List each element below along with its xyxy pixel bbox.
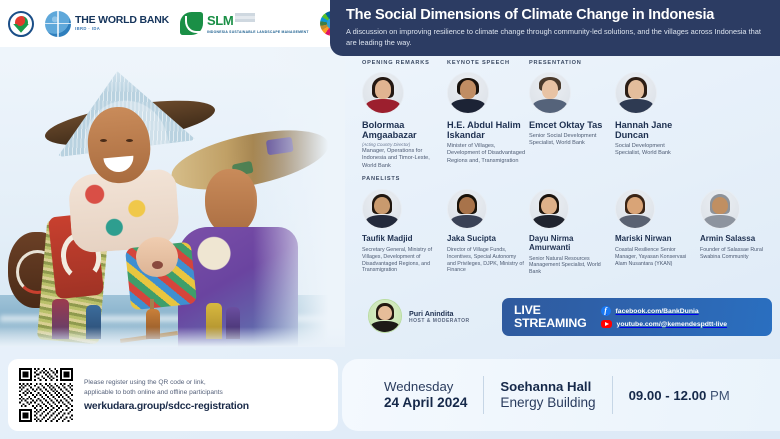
event-info-bar: Wednesday 24 April 2024 Soehanna Hall En… bbox=[342, 359, 780, 431]
avatar-shoulders bbox=[366, 215, 399, 228]
panelist-name: Taufik Madjid bbox=[362, 235, 440, 244]
avatar-shoulders bbox=[533, 215, 566, 228]
section-label-opening-remarks: OPENING REMARKS bbox=[362, 60, 430, 66]
section-label-presentation: PRESENTATION bbox=[529, 60, 582, 66]
avatar-shoulders bbox=[451, 215, 484, 228]
event-time-block: 09.00 - 12.00 PM bbox=[613, 388, 730, 403]
facebook-link[interactable]: f facebook.com/BankDunia bbox=[601, 306, 728, 316]
avatar bbox=[447, 189, 487, 229]
section-label-panelists: PANELISTS bbox=[362, 176, 400, 182]
panelist-card-taufik-madjid: Taufik Madjid Secretary General, Ministr… bbox=[362, 189, 440, 274]
panelist-card-dayu-nirma-amurwanti: Dayu Nirma Amurwanti Senior Natural Reso… bbox=[529, 189, 603, 276]
world-bank-sub: IBRD · IDA bbox=[75, 27, 169, 31]
speaker-card-hannah-jane-duncan: Hannah Jane Duncan Social Development Sp… bbox=[615, 72, 687, 158]
speaker-name: Hannah Jane Duncan bbox=[615, 120, 687, 140]
globe-icon bbox=[45, 11, 71, 37]
photo-fade-bottom bbox=[0, 327, 345, 347]
avatar-shoulders bbox=[533, 99, 567, 113]
avatar-head bbox=[542, 80, 559, 98]
world-bank-wordmark: THE WORLD BANK IBRD · IDA bbox=[75, 15, 169, 31]
avatar bbox=[615, 189, 655, 229]
avatar bbox=[362, 189, 402, 229]
host-card: Puri Anindita HOST & MODERATOR bbox=[368, 299, 470, 333]
photo-fade-right bbox=[253, 47, 345, 347]
speaker-role: Minister of Villages, Development of Dis… bbox=[447, 143, 527, 165]
youtube-link[interactable]: youtube.com/@kemendespdtt-live bbox=[601, 320, 728, 328]
registration-line-2: applicable to both online and offline pa… bbox=[84, 388, 249, 398]
avatar-head bbox=[712, 197, 728, 214]
event-time: 09.00 - 12.00 bbox=[629, 388, 707, 403]
avatar bbox=[529, 72, 571, 114]
avatar-head bbox=[627, 197, 643, 214]
avatar bbox=[700, 189, 740, 229]
speaker-card-emcet-oktay-tas: Emcet Oktay Tas Senior Social Developmen… bbox=[529, 72, 605, 148]
avatar bbox=[368, 299, 402, 333]
registration-text: Please register using the QR code or lin… bbox=[84, 378, 249, 412]
event-time-suffix: PM bbox=[710, 388, 730, 403]
panelist-name: Jaka Sucipta bbox=[447, 235, 525, 244]
registration-line-1: Please register using the QR code or lin… bbox=[84, 378, 249, 388]
avatar bbox=[447, 72, 489, 114]
event-date-block: Wednesday 24 April 2024 bbox=[368, 379, 483, 411]
speaker-name: Emcet Oktay Tas bbox=[529, 120, 605, 130]
avatar-head bbox=[378, 306, 391, 321]
speaker-name: Bolormaa Amgaabazar bbox=[362, 120, 436, 140]
facebook-icon: f bbox=[601, 306, 611, 316]
speaker-card-bolormaa-amgaabazar: Bolormaa Amgaabazar (Acting Country Dire… bbox=[362, 72, 436, 170]
avatar-head bbox=[374, 197, 390, 214]
avatar-head bbox=[459, 197, 475, 214]
speaker-subtitle: (Acting Country Director) bbox=[362, 142, 436, 147]
logo-kemendes bbox=[8, 11, 34, 37]
avatar-shoulders bbox=[366, 99, 400, 113]
avatar-head bbox=[375, 80, 392, 98]
avatar-shoulders bbox=[371, 321, 399, 332]
live-streaming-title: LIVE STREAMING bbox=[514, 304, 587, 329]
poster-canvas: THE WORLD BANK IBRD · IDA SLM INDONESIA … bbox=[0, 0, 780, 439]
slm-name: SLM bbox=[207, 13, 233, 28]
venue-name: Soehanna Hall bbox=[500, 379, 595, 395]
avatar-shoulders bbox=[451, 99, 485, 113]
panelist-role: Senior Natural Resources Management Spec… bbox=[529, 256, 603, 277]
logo-world-bank: THE WORLD BANK IBRD · IDA bbox=[45, 11, 169, 37]
avatar-head bbox=[460, 80, 477, 98]
youtube-icon bbox=[601, 320, 612, 328]
photo-baby-head bbox=[136, 237, 178, 277]
speaker-card-abdul-halim-iskandar: H.E. Abdul Halim Iskandar Minister of Vi… bbox=[447, 72, 527, 165]
slm-sub: INDONESIA SUSTAINABLE LANDSCAPE MANAGEME… bbox=[207, 31, 309, 34]
section-label-keynote-speech: KEYNOTE SPEECH bbox=[447, 60, 510, 66]
speaker-name: H.E. Abdul Halim Iskandar bbox=[447, 120, 527, 140]
avatar-head bbox=[541, 197, 557, 214]
facebook-url: facebook.com/BankDunia bbox=[616, 308, 699, 315]
qr-code[interactable] bbox=[19, 368, 73, 422]
panelist-card-armin-salassa: Armin Salassa Founder of Salassae Rural … bbox=[700, 189, 776, 261]
speaker-role: Senior Social Development Specialist, Wo… bbox=[529, 133, 605, 148]
world-bank-name: THE WORLD BANK bbox=[75, 15, 169, 26]
speaker-role: Manager, Operations for Indonesia and Ti… bbox=[362, 148, 436, 170]
panelist-role: Director of Village Funds, Incentives, S… bbox=[447, 247, 525, 275]
avatar bbox=[615, 72, 657, 114]
speaker-role: Social Development Specialist, World Ban… bbox=[615, 143, 687, 158]
avatar-shoulders bbox=[704, 215, 737, 228]
live-streaming-banner: LIVE STREAMING f facebook.com/BankDunia … bbox=[502, 298, 772, 336]
avatar-head bbox=[628, 80, 645, 98]
panelist-role: Coastal Resilience Senior Manager, Yayas… bbox=[615, 247, 691, 268]
photo-person-1-eye-right bbox=[126, 139, 133, 142]
slm-name-row: SLM bbox=[207, 13, 309, 29]
venue-building: Energy Building bbox=[500, 395, 595, 411]
panelist-card-jaka-sucipta: Jaka Sucipta Director of Village Funds, … bbox=[447, 189, 525, 274]
page-subtitle: A discussion on improving resilience to … bbox=[346, 27, 764, 48]
host-text: Puri Anindita HOST & MODERATOR bbox=[409, 309, 470, 324]
leaf-icon bbox=[180, 12, 203, 35]
registration-link[interactable]: werkudara.group/sdcc-registration bbox=[84, 401, 249, 412]
panelist-name: Mariski Nirwan bbox=[615, 235, 691, 244]
slm-wordmark: SLM INDONESIA SUSTAINABLE LANDSCAPE MANA… bbox=[207, 13, 309, 34]
registration-card: Please register using the QR code or lin… bbox=[8, 359, 338, 431]
logo-bar: THE WORLD BANK IBRD · IDA SLM INDONESIA … bbox=[0, 0, 340, 47]
slm-strip-icon bbox=[235, 13, 255, 22]
photo-person-2-face bbox=[205, 169, 257, 235]
avatar bbox=[362, 72, 404, 114]
event-date: 24 April 2024 bbox=[384, 395, 467, 411]
avatar bbox=[529, 189, 569, 229]
event-venue-block: Soehanna Hall Energy Building bbox=[484, 379, 611, 411]
avatar-shoulders bbox=[619, 215, 652, 228]
header-band: The Social Dimensions of Climate Change … bbox=[330, 0, 780, 56]
photo-baby-mouth bbox=[152, 261, 163, 269]
kemendes-seal-icon bbox=[8, 11, 34, 37]
live-streaming-links: f facebook.com/BankDunia youtube.com/@ke… bbox=[601, 306, 728, 328]
panelist-name: Armin Salassa bbox=[700, 235, 776, 244]
panelist-card-mariski-nirwan: Mariski Nirwan Coastal Resilience Senior… bbox=[615, 189, 691, 267]
panelist-role: Secretary General, Ministry of Villages,… bbox=[362, 247, 440, 275]
live-title-line2: STREAMING bbox=[514, 317, 587, 330]
event-photo-collage bbox=[0, 47, 345, 347]
panelist-name: Dayu Nirma Amurwanti bbox=[529, 235, 603, 253]
avatar-shoulders bbox=[619, 99, 653, 113]
youtube-url: youtube.com/@kemendespdtt-live bbox=[617, 321, 728, 328]
speakers-area: OPENING REMARKS KEYNOTE SPEECH PRESENTAT… bbox=[360, 60, 780, 350]
host-role: HOST & MODERATOR bbox=[409, 318, 470, 324]
photo-person-1-eye-left bbox=[100, 139, 107, 142]
host-name: Puri Anindita bbox=[409, 309, 470, 318]
event-day: Wednesday bbox=[384, 379, 467, 395]
panelist-role: Founder of Salassae Rural Swabina Commun… bbox=[700, 247, 776, 261]
logo-slm: SLM INDONESIA SUSTAINABLE LANDSCAPE MANA… bbox=[180, 12, 309, 35]
page-title: The Social Dimensions of Climate Change … bbox=[346, 7, 764, 23]
